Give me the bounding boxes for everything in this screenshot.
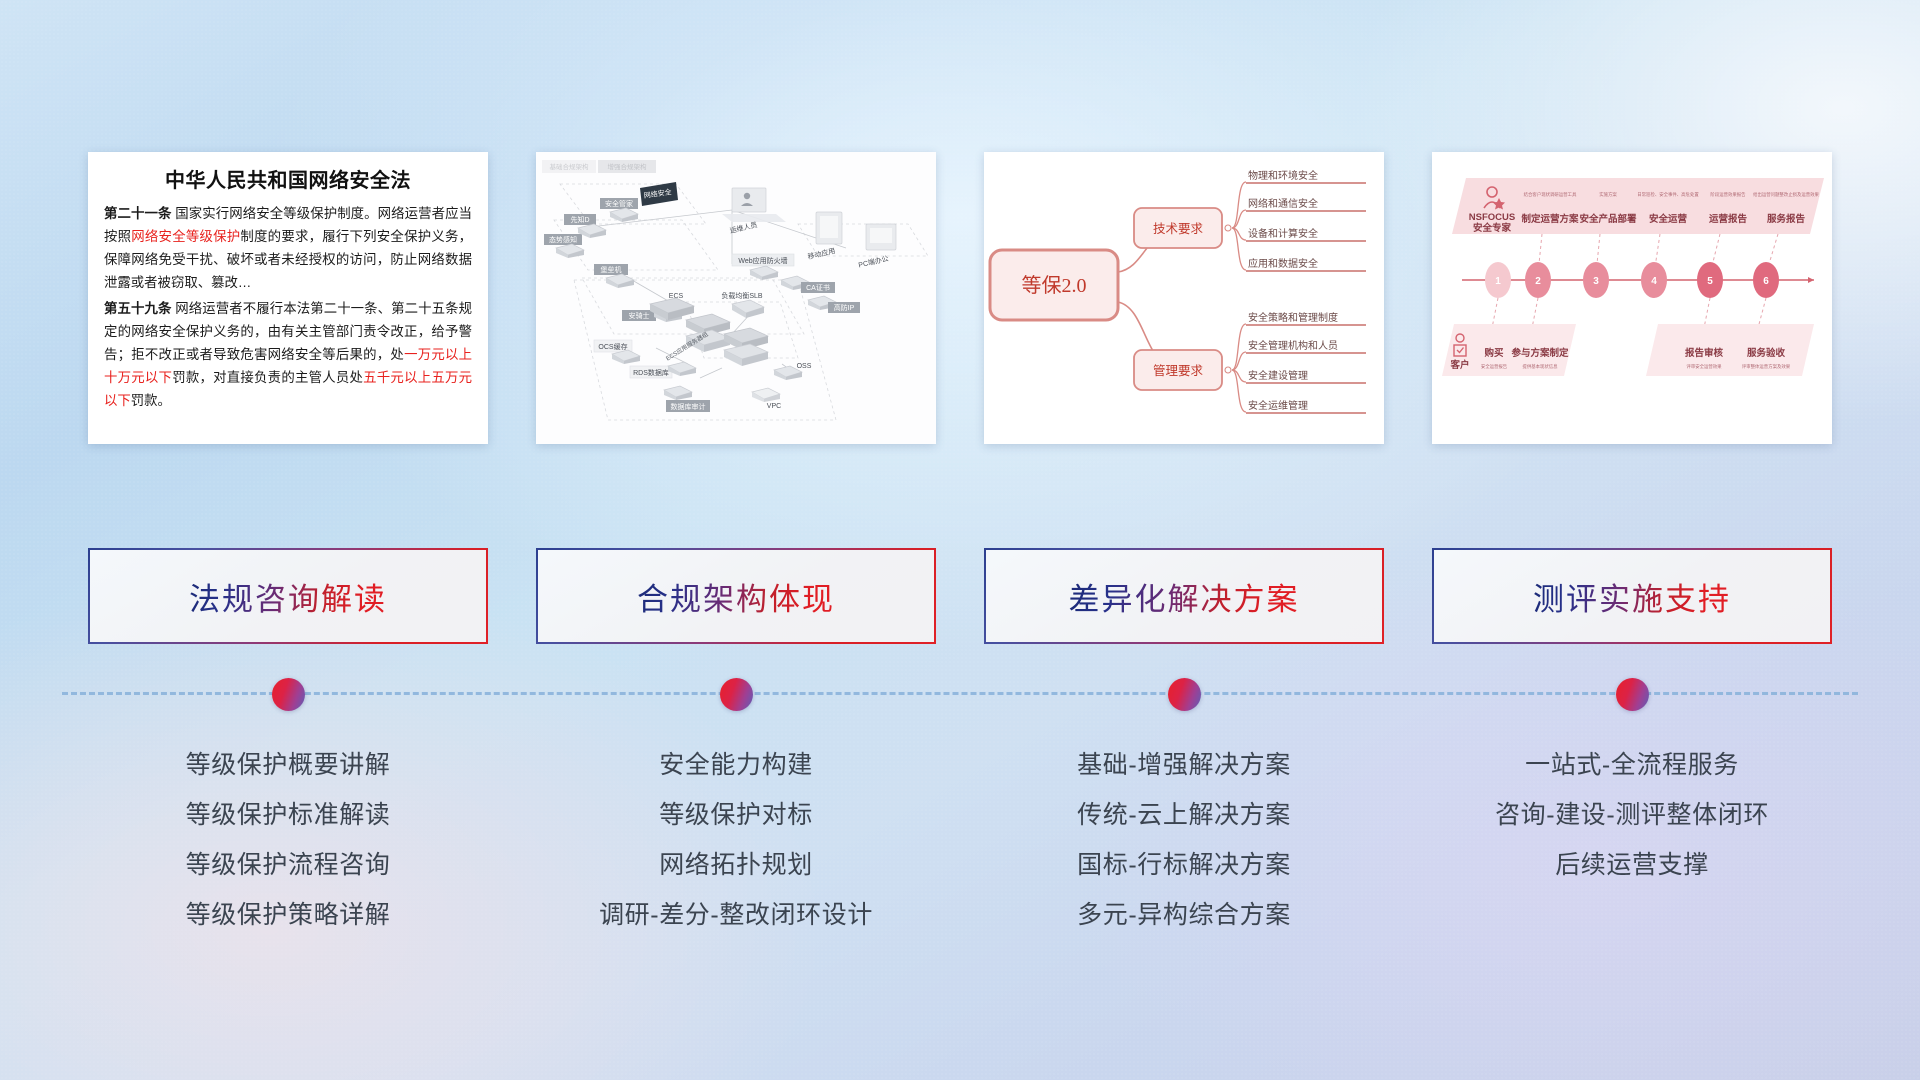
- timeline-dot-3: [1168, 678, 1201, 711]
- timeline-step3-title: 安全产品部署: [1579, 213, 1637, 225]
- timeline-step4-title: 安全运营: [1649, 213, 1688, 225]
- slide-root: 中华人民共和国网络安全法 第二十一条 国家实行网络安全等级保护制度。网络运营者应…: [0, 0, 1920, 1080]
- timeline-step6-title: 服务报告: [1767, 213, 1806, 225]
- node-label-antiddos: 高防IP: [834, 303, 855, 312]
- list-item: 等级保护对标: [536, 790, 936, 840]
- list-item: 一站式-全流程服务: [1432, 740, 1832, 790]
- section-items-col-2: 安全能力构建 等级保护对标 网络拓扑规划 调研-差分-整改闭环设计: [536, 740, 936, 1000]
- list-item: 多元-异构综合方案: [984, 890, 1384, 940]
- timeline-step3-sub: 实施方案: [1599, 191, 1617, 198]
- node-ops-server: [732, 188, 766, 212]
- list-item: 等级保护策略详解: [88, 890, 488, 940]
- nsfocus-timeline-diagram: NSFOCUS 安全专家 结合客户现状调研运营工具 制定运营方案 实施方案 安全…: [1432, 152, 1832, 444]
- law-article-59-text-b: 罚款，对直接负责的主管人员处: [172, 370, 363, 385]
- node-label-bastion: 堡垒机: [601, 265, 622, 274]
- timeline-marker-1: 1: [1495, 276, 1501, 287]
- node-label-dbaudit: 数据库审计: [671, 402, 706, 411]
- timeline-step2-title: 制定运营方案: [1521, 213, 1579, 225]
- law-article-59-text-c: 罚款。: [131, 393, 171, 408]
- section-items-col-1: 等级保护概要讲解 等级保护标准解读 等级保护流程咨询 等级保护策略详解: [88, 740, 488, 1000]
- section-items-col-3: 基础-增强解决方案 传统-云上解决方案 国标-行标解决方案 多元-异构综合方案: [984, 740, 1384, 1000]
- timeline-bottom4-title: 服务验收: [1747, 347, 1786, 359]
- law-article-21-highlight: 网络安全等级保护: [131, 229, 240, 244]
- node-label-slb: 负载均衡SLB: [721, 291, 763, 300]
- list-item: 后续运营支撑: [1432, 840, 1832, 890]
- timeline-marker-5: 5: [1707, 276, 1713, 287]
- timeline-expert-line1: NSFOCUS: [1469, 212, 1515, 223]
- mindmap-leaf-m2: 安全管理机构和人员: [1248, 339, 1338, 352]
- timeline-dot-2: [720, 678, 753, 711]
- section-title-box-2[interactable]: 合规架构体现: [536, 548, 936, 644]
- node-label-waf: Web应用防火墙: [738, 256, 787, 265]
- node-label-ocs: OCS缓存: [598, 342, 627, 351]
- node-label-rds: RDS数据库: [633, 368, 669, 377]
- timeline-customer-label: 客户: [1449, 359, 1469, 371]
- section-title-box-1[interactable]: 法规咨询解读: [88, 548, 488, 644]
- law-article-21: 第二十一条 国家实行网络安全等级保护制度。网络运营者应当按照网络安全等级保护制度…: [104, 202, 472, 294]
- list-item: 等级保护标准解读: [88, 790, 488, 840]
- timeline-step6-sub: 给出运营问题整改止损及运营效果: [1753, 191, 1819, 198]
- timeline-bottom3-sub: 评审安全运营效果: [1686, 363, 1722, 370]
- tab-enhanced-label[interactable]: 增强合规架构: [608, 162, 648, 171]
- law-title: 中华人民共和国网络安全法: [104, 164, 472, 193]
- list-item: 等级保护流程咨询: [88, 840, 488, 890]
- timeline-step5-title: 运营报告: [1709, 213, 1748, 225]
- mindmap-leaf-m4: 安全运维管理: [1248, 399, 1308, 412]
- list-item: 咨询-建设-测评整体闭环: [1432, 790, 1832, 840]
- timeline-bottom2-sub: 提供基本现状信息: [1522, 363, 1558, 370]
- mindmap-diagram: 等保2.0 技术要求: [984, 152, 1384, 444]
- node-label-xianzhi: 先知D: [570, 215, 589, 224]
- mindmap-branch-management-label: 管理要求: [1153, 363, 1204, 378]
- timeline-marker-4: 4: [1651, 276, 1657, 287]
- timeline-dots-row: [0, 660, 1920, 728]
- card-mindmap-dengbao: 等保2.0 技术要求: [984, 152, 1384, 444]
- mindmap-leaf-t2: 网络和通信安全: [1248, 197, 1318, 210]
- card-cloud-architecture: 基础合规架构 增强合规架构: [536, 152, 936, 444]
- section-title-label-4: 测评实施支持: [1533, 574, 1731, 619]
- card-nsfocus-timeline: NSFOCUS 安全专家 结合客户现状调研运营工具 制定运营方案 实施方案 安全…: [1432, 152, 1832, 444]
- mindmap-leaf-m3: 安全建设管理: [1248, 369, 1308, 382]
- timeline-marker-2: 2: [1535, 276, 1541, 287]
- section-title-label-1: 法规咨询解读: [189, 574, 387, 619]
- list-item: 基础-增强解决方案: [984, 740, 1384, 790]
- law-article-59: 第五十九条 网络运营者不履行本法第二十一条、第二十五条规定的网络安全保护义务的，…: [104, 297, 472, 412]
- law-article-59-label: 第五十九条: [104, 301, 171, 316]
- timeline-marker-3: 3: [1593, 276, 1599, 287]
- illustration-cards-row: 中华人民共和国网络安全法 第二十一条 国家实行网络安全等级保护制度。网络运营者应…: [0, 152, 1920, 444]
- law-article-21-label: 第二十一条: [104, 206, 171, 221]
- section-title-label-2: 合规架构体现: [637, 574, 835, 619]
- timeline-step4-sub: 日常巡检、安全事件、高危处置: [1637, 191, 1699, 198]
- cloud-architecture-diagram: 基础合规架构 增强合规架构: [536, 152, 936, 444]
- timeline-expert-line2: 安全专家: [1473, 222, 1512, 234]
- mindmap-root-node: 等保2.0: [990, 250, 1118, 320]
- node-label-steward: 安全管家: [605, 199, 633, 208]
- list-item: 网络拓扑规划: [536, 840, 936, 890]
- list-item: 等级保护概要讲解: [88, 740, 488, 790]
- node-label-anqishi: 安骑士: [629, 311, 650, 320]
- timeline-dot-1: [272, 678, 305, 711]
- card-cybersecurity-law: 中华人民共和国网络安全法 第二十一条 国家实行网络安全等级保护制度。网络运营者应…: [88, 152, 488, 444]
- section-titles-row: 法规咨询解读 合规架构体现 差异化解决方案 测评实施支持: [0, 548, 1920, 644]
- section-title-box-3[interactable]: 差异化解决方案: [984, 548, 1384, 644]
- list-item: 国标-行标解决方案: [984, 840, 1384, 890]
- timeline-bottom2-title: 参与方案制定: [1510, 347, 1569, 359]
- timeline-dot-cell-3: [984, 660, 1384, 728]
- section-items-row: 等级保护概要讲解 等级保护标准解读 等级保护流程咨询 等级保护策略详解 安全能力…: [0, 740, 1920, 1000]
- mindmap-branch-management: 管理要求: [1134, 350, 1231, 390]
- node-label-situational: 态势感知: [549, 235, 577, 244]
- timeline-marker-6: 6: [1763, 276, 1769, 287]
- list-item: 安全能力构建: [536, 740, 936, 790]
- list-item: 调研-差分-整改闭环设计: [536, 890, 936, 940]
- timeline-bottom1-title: 购买: [1484, 347, 1504, 359]
- timeline-dot-cell-2: [536, 660, 936, 728]
- timeline-bottom4-sub: 评审整体运营方案及效果: [1742, 363, 1791, 370]
- timeline-bottom1-sub: 安全运营报告: [1481, 363, 1508, 370]
- timeline-dot-cell-1: [88, 660, 488, 728]
- timeline-bottom3-title: 报告审核: [1685, 347, 1724, 359]
- timeline-step2-sub: 结合客户现状调研运营工具: [1524, 191, 1577, 198]
- node-label-oss: OSS: [797, 363, 812, 370]
- mindmap-branch-technical: 技术要求: [1134, 208, 1231, 248]
- section-items-col-4: 一站式-全流程服务 咨询-建设-测评整体闭环 后续运营支撑: [1432, 740, 1832, 1000]
- section-title-box-4[interactable]: 测评实施支持: [1432, 548, 1832, 644]
- timeline-dot-4: [1616, 678, 1649, 711]
- list-item: 传统-云上解决方案: [984, 790, 1384, 840]
- mindmap-leaf-t3: 设备和计算安全: [1248, 227, 1318, 240]
- mindmap-leaf-t1: 物理和环境安全: [1248, 169, 1318, 182]
- mindmap-root-label: 等保2.0: [1022, 274, 1087, 297]
- mindmap-branch-technical-label: 技术要求: [1153, 222, 1204, 236]
- mindmap-leaf-t4: 应用和数据安全: [1248, 257, 1318, 270]
- node-label-ca: CA证书: [806, 283, 830, 292]
- node-label-vpc: VPC: [767, 403, 781, 410]
- section-title-label-3: 差异化解决方案: [1069, 574, 1300, 619]
- timeline-dot-cell-4: [1432, 660, 1832, 728]
- tab-basic-label[interactable]: 基础合规架构: [550, 162, 590, 171]
- timeline-step5-sub: 阶段运营效果报告: [1710, 191, 1746, 198]
- mindmap-leaf-m1: 安全策略和管理制度: [1248, 311, 1338, 324]
